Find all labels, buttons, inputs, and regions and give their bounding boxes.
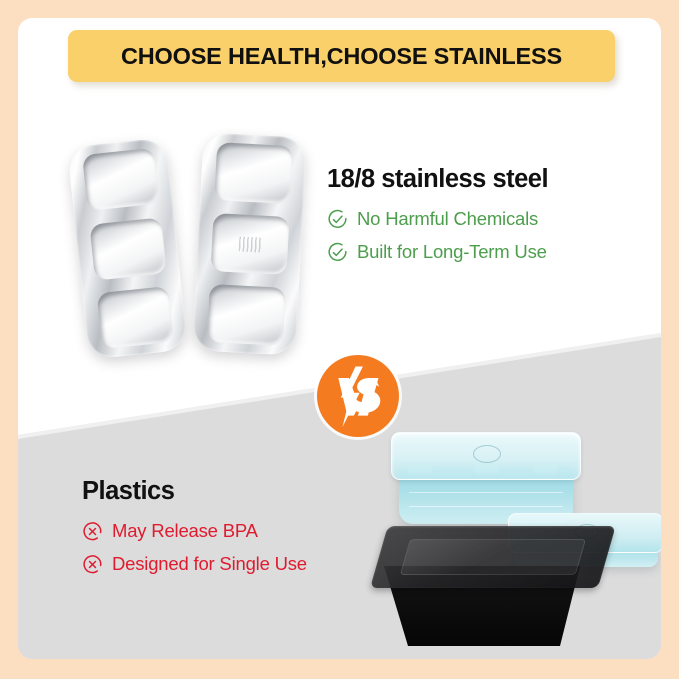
drawback-item: May Release BPA	[82, 520, 412, 542]
stainless-title: 18/8 stainless steel	[327, 165, 647, 194]
tray-compartment	[206, 284, 285, 346]
stainless-tray-right	[192, 132, 306, 355]
tray-compartment	[214, 142, 293, 204]
banner-title: CHOOSE HEALTH,CHOOSE STAINLESS	[121, 43, 562, 70]
tray-compartment	[82, 148, 159, 211]
drawback-item: Designed for Single Use	[82, 553, 412, 575]
plastics-section: Plastics May Release BPA Desi	[82, 477, 412, 586]
check-circle-icon	[327, 242, 348, 263]
tray-compartment	[89, 217, 166, 280]
tray-compartment-stamped	[210, 213, 289, 275]
vs-badge	[317, 355, 399, 437]
stainless-tray-left	[67, 137, 188, 359]
drawback-label: Designed for Single Use	[112, 553, 307, 575]
benefit-item: No Harmful Chemicals	[327, 208, 647, 230]
drawback-label: May Release BPA	[112, 520, 258, 542]
container-lid	[391, 432, 581, 480]
tray-compartment	[96, 286, 173, 349]
vs-badge-glyph	[317, 355, 399, 437]
content-card: CHOOSE HEALTH,CHOOSE STAINLESS 18/8 stai…	[18, 18, 661, 659]
x-circle-icon	[82, 554, 103, 575]
stainless-section: 18/8 stainless steel No Harmful Chemical…	[327, 165, 647, 274]
benefit-label: No Harmful Chemicals	[357, 208, 538, 230]
x-circle-icon	[82, 521, 103, 542]
comparison-infographic: CHOOSE HEALTH,CHOOSE STAINLESS 18/8 stai…	[0, 0, 679, 679]
header-banner: CHOOSE HEALTH,CHOOSE STAINLESS	[68, 30, 615, 82]
plastics-title: Plastics	[82, 477, 412, 506]
benefit-label: Built for Long-Term Use	[357, 241, 547, 263]
benefit-item: Built for Long-Term Use	[327, 241, 647, 263]
check-circle-icon	[327, 209, 348, 230]
